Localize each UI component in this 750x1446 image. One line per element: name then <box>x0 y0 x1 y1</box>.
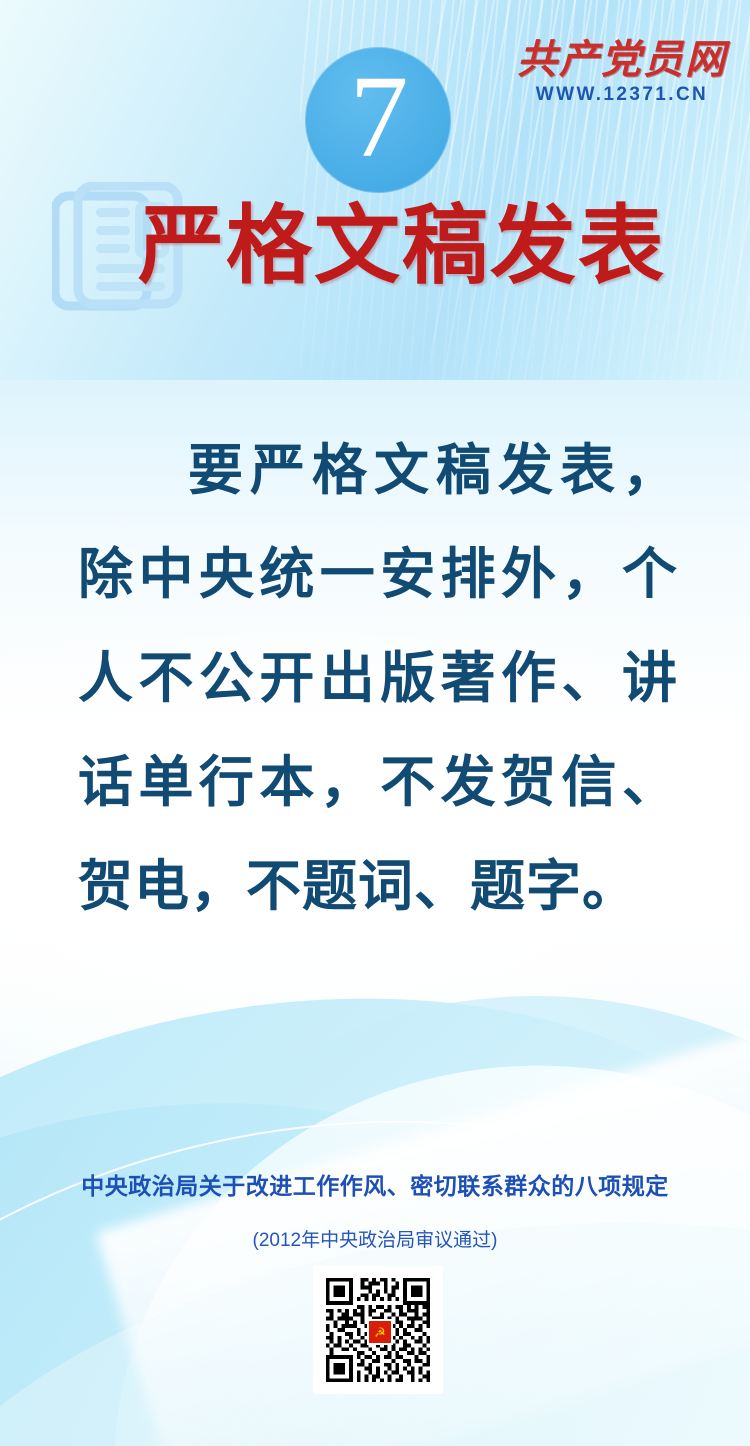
poster-body-text: 要严格文稿发表，除中央统一安排外，个人不公开出版著作、讲话单行本，不发贺信、贺电… <box>78 418 678 938</box>
site-logo[interactable]: 共产党员网 WWW.12371.CN <box>516 38 728 107</box>
section-number: 7 <box>350 63 407 171</box>
footer-regulation-subtitle: (2012年中央政治局审议通过) <box>0 1228 750 1254</box>
party-emblem-icon: ☭ <box>367 1319 393 1345</box>
poster-canvas: 7 共产党员网 WWW.12371.CN 严格文稿发表 要严格文稿发表，除中央统… <box>0 0 750 1446</box>
site-logo-name: 共产党员网 <box>516 38 728 82</box>
footer-regulation-title: 中央政治局关于改进工作作风、密切联系群众的八项规定 <box>0 1172 750 1202</box>
section-number-badge: 7 <box>305 47 451 193</box>
qr-code-matrix: ☭ <box>322 1274 434 1386</box>
qr-code[interactable]: ☭ <box>313 1266 443 1394</box>
poster-header: 7 共产党员网 WWW.12371.CN 严格文稿发表 <box>0 0 750 340</box>
site-logo-url: WWW.12371.CN <box>516 83 728 107</box>
page-title: 严格文稿发表 <box>138 198 718 294</box>
